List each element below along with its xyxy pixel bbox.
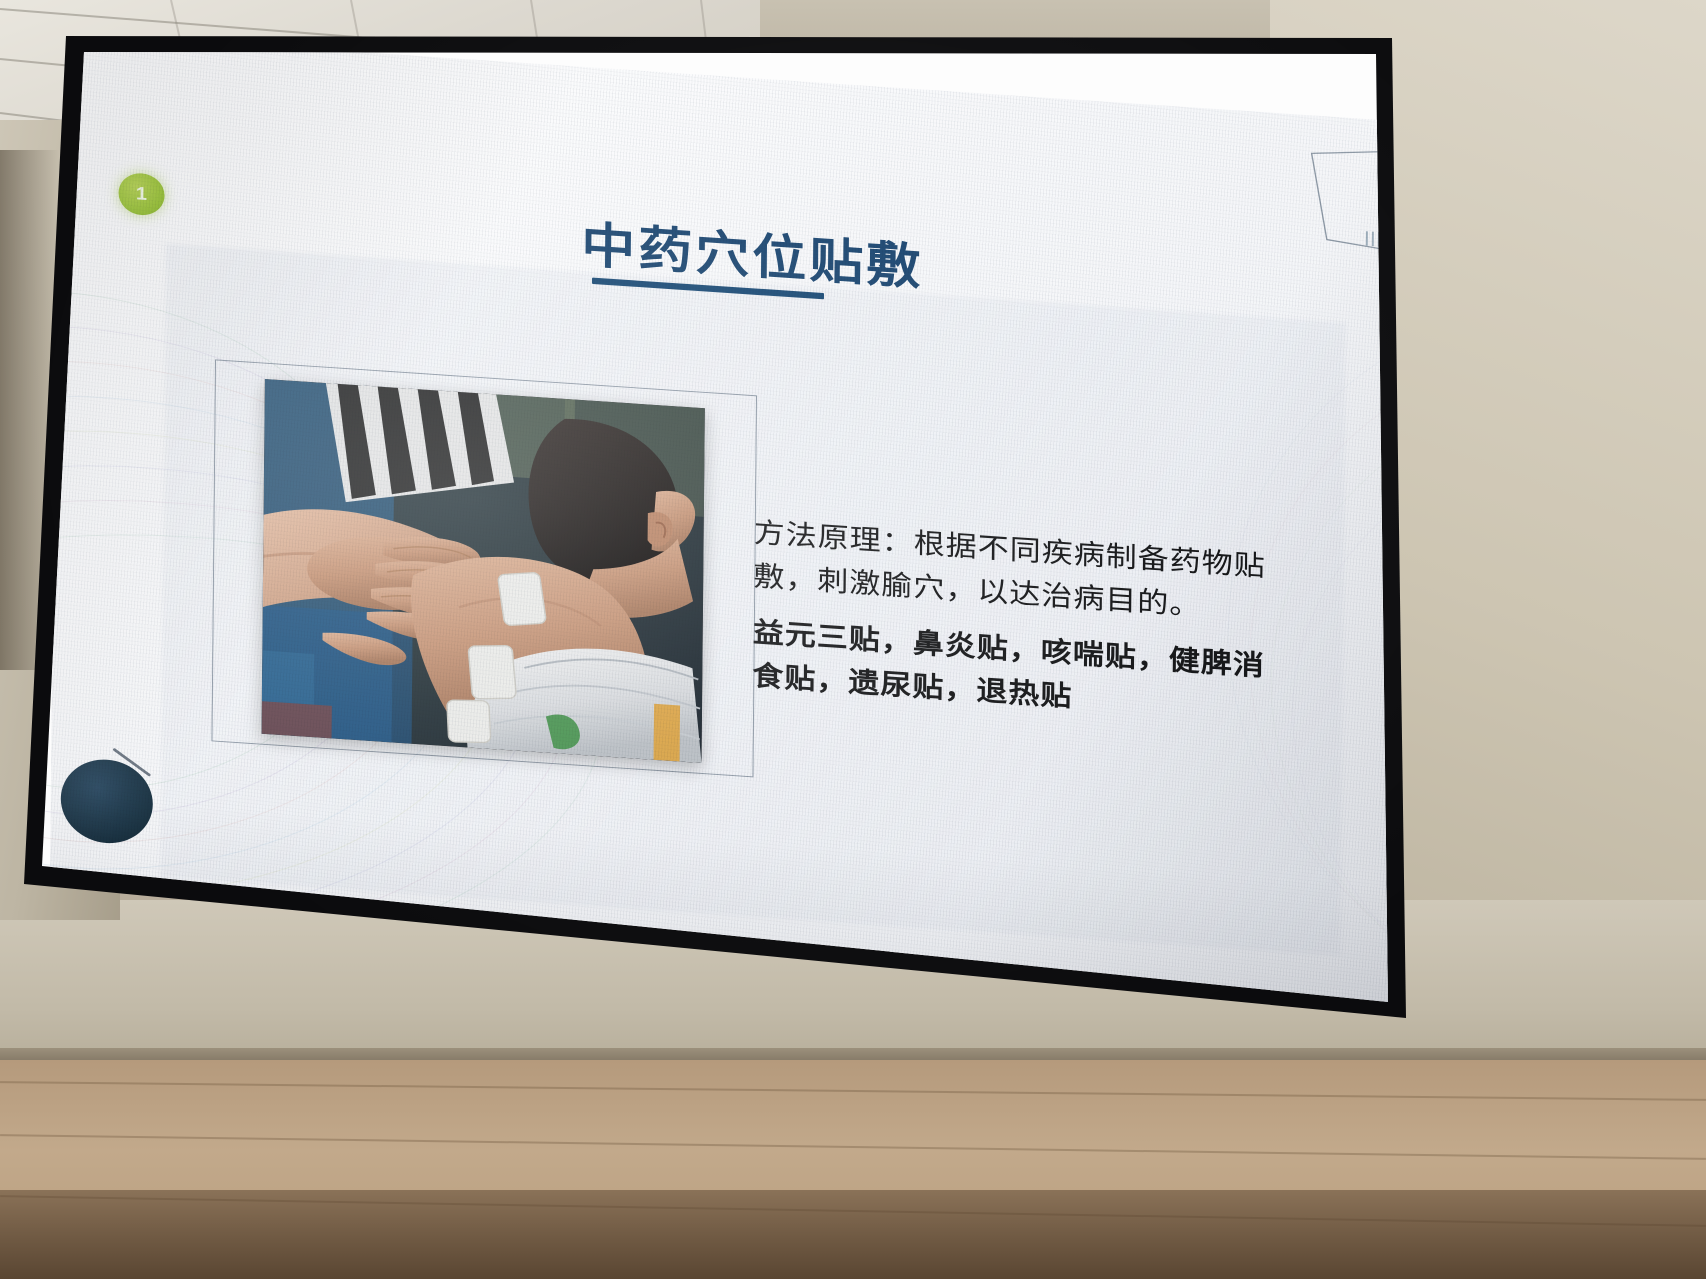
slide-photo (262, 379, 705, 763)
floor-shadow (0, 1190, 1706, 1279)
